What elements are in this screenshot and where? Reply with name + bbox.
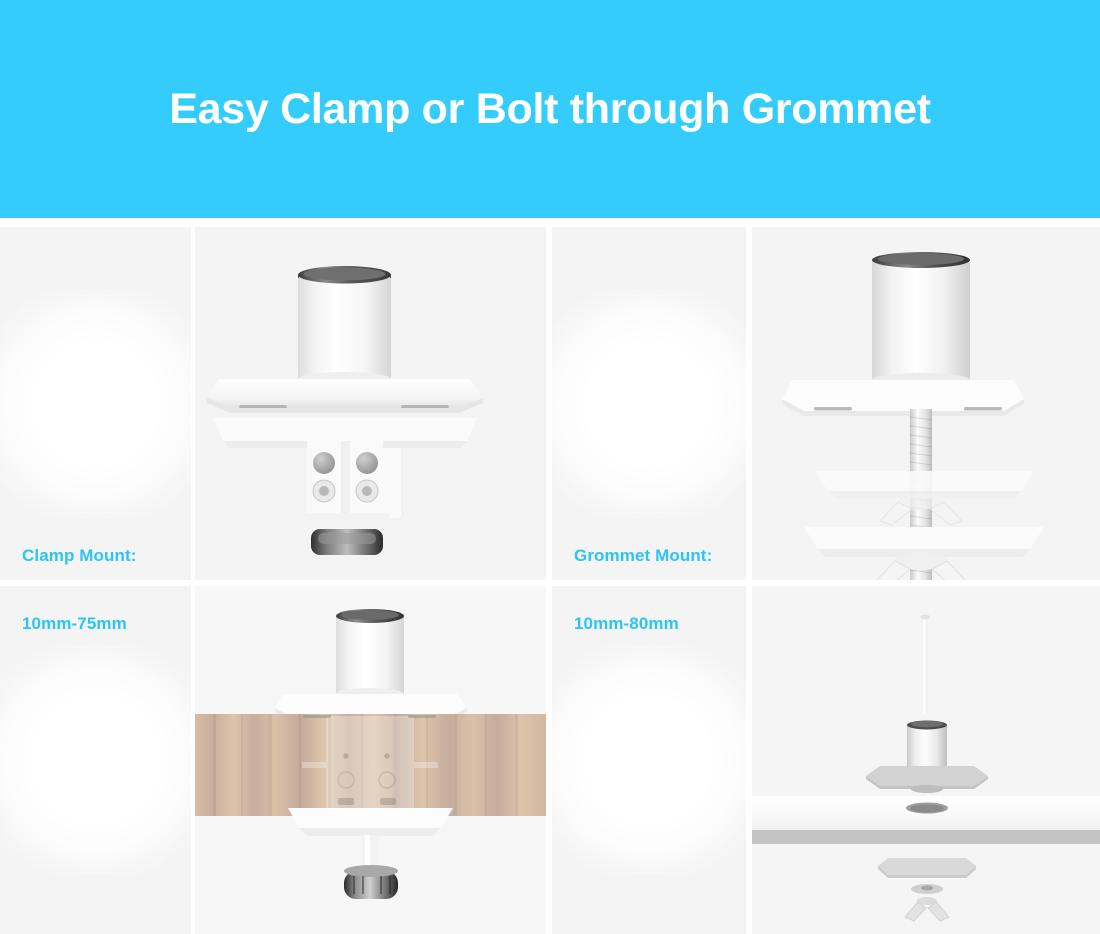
grommet-mount-caption: Grommet Mount: xyxy=(574,546,712,566)
clamp-mount-range: 10mm-75mm xyxy=(22,614,127,634)
clamp-mount-caption: Clamp Mount: xyxy=(22,546,137,566)
grommet-label-panel-top: Grommet Mount: xyxy=(552,227,746,580)
grommet-mount-range: 10mm-80mm xyxy=(574,614,679,634)
grommet-mount-exploded-photo xyxy=(752,227,1100,580)
product-feature-page: Easy Clamp or Bolt through Grommet Clamp… xyxy=(0,0,1100,934)
glow-highlight xyxy=(0,289,191,519)
glow-highlight xyxy=(552,289,746,519)
clamp-mount-on-desk-photo xyxy=(195,586,546,934)
clamp-on-desk-illustration xyxy=(195,586,546,934)
page-title: Easy Clamp or Bolt through Grommet xyxy=(169,88,931,131)
clamp-mount-illustration xyxy=(195,227,546,580)
glow-highlight xyxy=(552,645,746,875)
glow-highlight xyxy=(0,645,191,875)
feature-grid: Clamp Mount: 10mm-75mm xyxy=(0,227,1100,934)
header-banner: Easy Clamp or Bolt through Grommet xyxy=(0,0,1100,218)
clamp-label-panel-bottom: 10mm-75mm xyxy=(0,586,191,934)
grommet-mount-on-desk-photo xyxy=(752,586,1100,934)
clamp-mount-product-photo xyxy=(195,227,546,580)
grommet-exploded-illustration xyxy=(752,227,1100,580)
grommet-on-desk-illustration xyxy=(752,586,1100,934)
clamp-label-panel-top: Clamp Mount: xyxy=(0,227,191,580)
grommet-label-panel-bottom: 10mm-80mm xyxy=(552,586,746,934)
